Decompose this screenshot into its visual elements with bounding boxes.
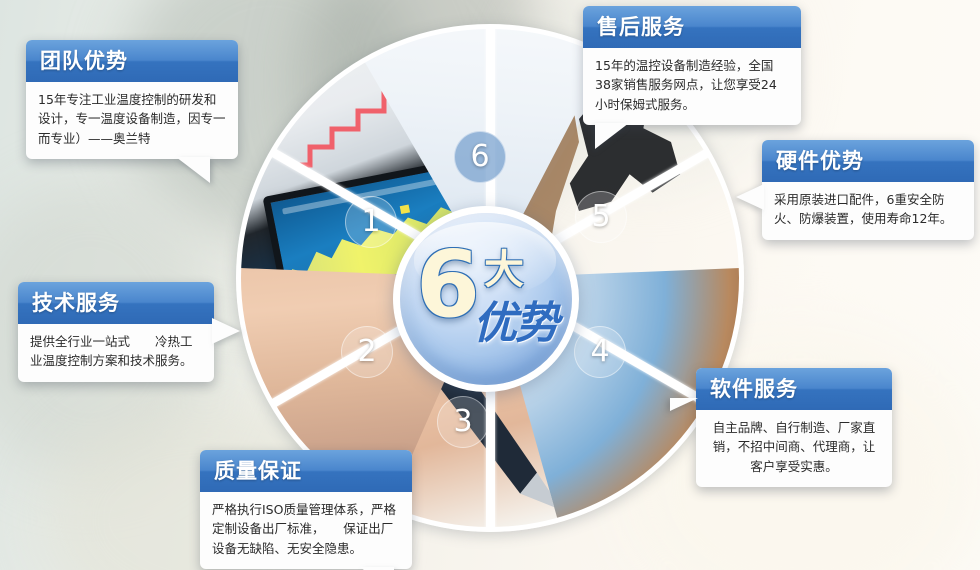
callout-tail (670, 398, 698, 424)
callout-tail (595, 123, 629, 149)
card-title-software: 软件服务 (696, 368, 892, 410)
card-title-team: 团队优势 (26, 40, 238, 82)
hub-number: 6 (416, 239, 480, 331)
card-body-hardware: 采用原装进口配件，6重安全防火、防爆装置，使用寿命12年。 (762, 182, 974, 240)
center-hub: 6 大 优势 (400, 213, 572, 385)
callout-tail (212, 318, 240, 344)
callout-card-after-sales[interactable]: 售后服务 15年的温控设备制造经验，全国38家销售服务网点，让您享受24小时保姆… (583, 6, 801, 125)
callout-card-quality[interactable]: 质量保证 严格执行ISO质量管理体系，严格定制设备出厂标准， 保证出厂设备无缺陷… (200, 450, 412, 569)
callout-tail (176, 157, 210, 183)
card-body-team: 15年专注工业温度控制的研发和设计，专一温度设备制造，因专一而专业）——奥兰特 (26, 82, 238, 159)
card-title-hardware: 硬件优势 (762, 140, 974, 182)
card-title-technical: 技术服务 (18, 282, 214, 324)
card-body-technical: 提供全行业一站式 冷热工业温度控制方案和技术服务。 (18, 324, 214, 382)
segment-number-5[interactable]: 5 (575, 191, 627, 243)
hub-word: 优势 (473, 287, 557, 351)
card-title-quality: 质量保证 (200, 450, 412, 492)
callout-card-technical[interactable]: 技术服务 提供全行业一站式 冷热工业温度控制方案和技术服务。 (18, 282, 214, 382)
segment-number-1[interactable]: 1 (345, 196, 397, 248)
callout-card-software[interactable]: 软件服务 自主品牌、自行制造、厂家直销，不招中间商、代理商，让客户享受实惠。 (696, 368, 892, 487)
segment-number-4[interactable]: 4 (574, 326, 626, 378)
card-body-quality: 严格执行ISO质量管理体系，严格定制设备出厂标准， 保证出厂设备无缺陷、无安全隐… (200, 492, 412, 569)
segment-number-2[interactable]: 2 (341, 326, 393, 378)
segment-number-6[interactable]: 6 (454, 131, 506, 183)
segment-number-3[interactable]: 3 (437, 396, 489, 448)
callout-tail (736, 184, 764, 210)
infographic-canvas: 1 2 3 4 5 6 6 大 优势 团队优势 15年专注工业温度控制的研发和设… (0, 0, 980, 570)
card-body-software: 自主品牌、自行制造、厂家直销，不招中间商、代理商，让客户享受实惠。 (696, 410, 892, 487)
card-title-after-sales: 售后服务 (583, 6, 801, 48)
callout-card-hardware[interactable]: 硬件优势 采用原装进口配件，6重安全防火、防爆装置，使用寿命12年。 (762, 140, 974, 240)
card-body-after-sales: 15年的温控设备制造经验，全国38家销售服务网点，让您享受24小时保姆式服务。 (583, 48, 801, 125)
callout-card-team[interactable]: 团队优势 15年专注工业温度控制的研发和设计，专一温度设备制造，因专一而专业）—… (26, 40, 238, 159)
